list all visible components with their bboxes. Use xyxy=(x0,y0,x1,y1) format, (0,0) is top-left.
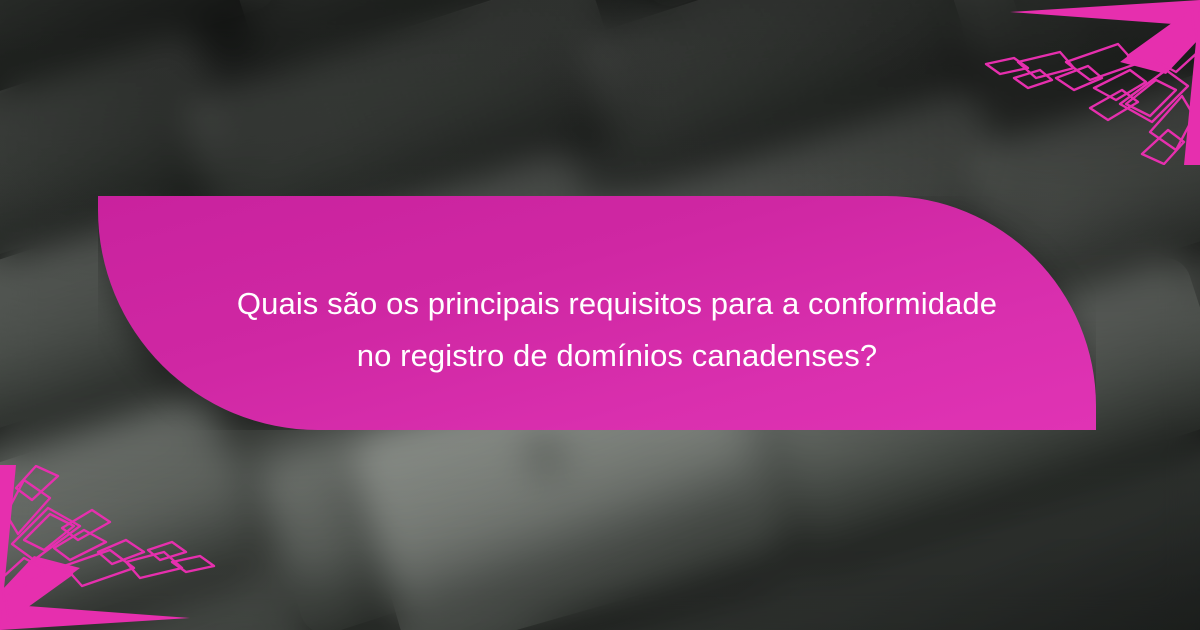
headline-banner: Quais são os principais requisitos para … xyxy=(98,196,1096,430)
social-card: Quais são os principais requisitos para … xyxy=(0,0,1200,630)
headline-text: Quais são os principais requisitos para … xyxy=(228,278,1006,382)
